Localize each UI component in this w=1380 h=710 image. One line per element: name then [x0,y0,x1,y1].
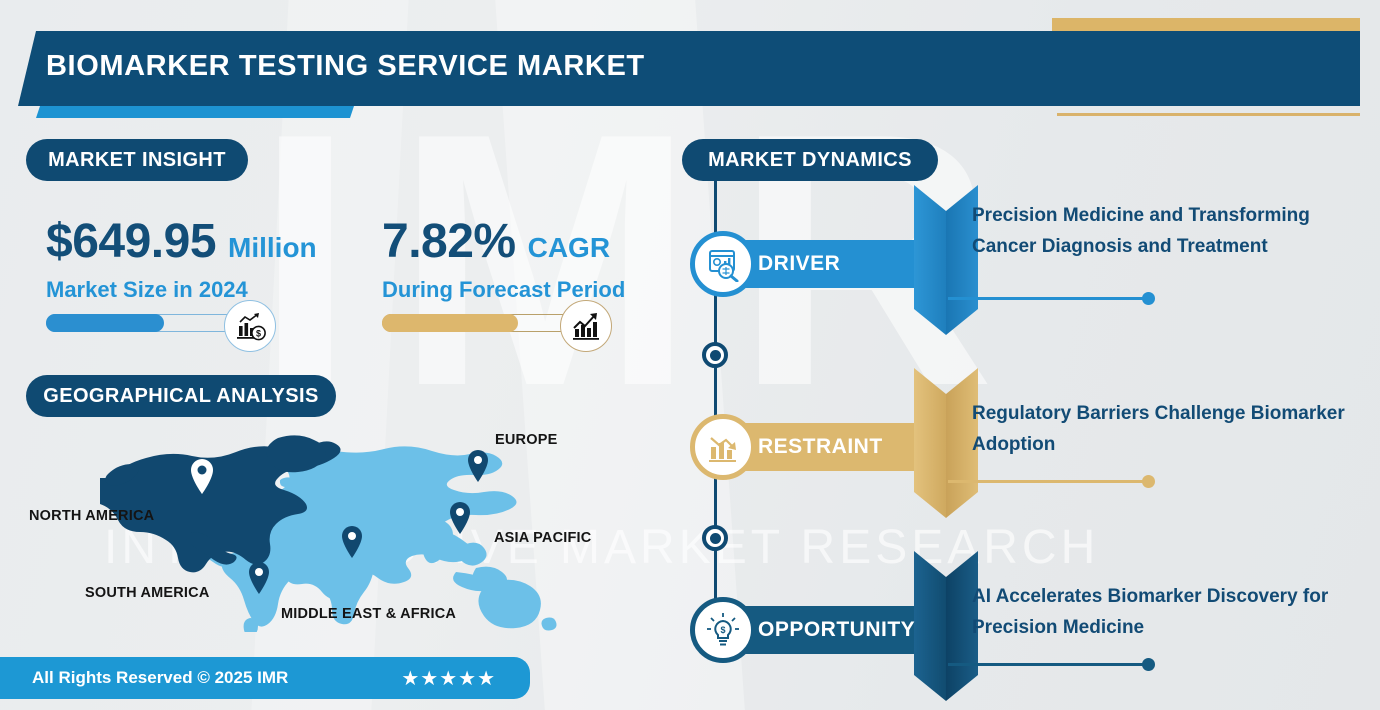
map-label-middle-east-africa: MIDDLE EAST & AFRICA [281,606,456,622]
restraint-label: RESTRAINT [758,423,883,471]
opportunity-chevron-arrow [914,551,978,701]
growth-arrow-chart-icon [560,300,612,352]
opportunity-label: OPPORTUNITY [758,606,915,654]
infographic-canvas: IMR INTROSPECTIVE MARKET RESEARCH BIOMAR… [0,0,1380,710]
restraint-end-dot [1142,475,1155,488]
map-pin-europe [468,450,488,482]
dynamics-timeline-node [702,342,728,368]
kpi-market-size-unit: Million [228,232,317,264]
report-magnifier-icon [690,231,756,297]
section-pill-geographical-analysis: GEOGRAPHICAL ANALYSIS [26,375,336,417]
map-label-asia-pacific: ASIA PACIFIC [494,530,591,546]
restraint-description: Regulatory Barriers Challenge Biomarker … [972,399,1372,461]
kpi-cagr-unit: CAGR [528,232,610,264]
kpi-cagr-value: 7.82% [382,214,516,269]
opportunity-end-dot [1142,658,1155,671]
driver-chevron-arrow [914,185,978,335]
header-blue-underline [36,106,354,118]
progress-bar-cagr [382,300,612,352]
dynamics-timeline-node [702,525,728,551]
driver-rule [948,297,1148,300]
kpi-market-size-value: $649.95 [46,214,216,269]
section-pill-market-dynamics: MARKET DYNAMICS [682,139,938,181]
footer-copyright: All Rights Reserved © 2025 IMR [32,668,288,688]
driver-end-dot [1142,292,1155,305]
progress-fill [382,314,518,332]
footer-star-rating: ★★★★★ [401,666,496,691]
header-gold-accent-line [1057,113,1360,116]
driver-label: DRIVER [758,240,840,288]
lightbulb-dollar-icon: $ [690,597,756,663]
opportunity-rule [948,663,1148,666]
opportunity-description: AI Accelerates Biomarker Discovery for P… [972,582,1372,644]
footer-bar: All Rights Reserved © 2025 IMR ★★★★★ [0,657,530,699]
dynamics-item-restraint: RESTRAINT Regulatory Barriers Challenge … [690,368,1380,518]
bar-chart-dollar-icon: $ [224,300,276,352]
map-label-north-america: NORTH AMERICA [29,508,154,524]
map-label-europe: EUROPE [495,432,557,448]
section-pill-market-insight: MARKET INSIGHT [26,139,248,181]
map-pin-asia-pacific [450,502,470,534]
dynamics-item-opportunity: $ OPPORTUNITY AI Accelerates Biomarker D… [690,551,1380,701]
page-title: BIOMARKER TESTING SERVICE MARKET [46,50,645,83]
declining-bar-chart-icon [690,414,756,480]
kpi-cagr: 7.82% CAGR During Forecast Period [382,214,625,303]
svg-text:$: $ [720,625,725,635]
restraint-rule [948,480,1148,483]
svg-text:$: $ [256,329,261,339]
dynamics-item-driver: DRIVER Precision Medicine and Transformi… [690,185,1380,335]
progress-fill [46,314,164,332]
map-label-south-america: SOUTH AMERICA [85,585,210,601]
kpi-market-size: $649.95 Million Market Size in 2024 [46,214,317,303]
progress-bar-market-size: $ [46,300,276,352]
driver-description: Precision Medicine and Transforming Canc… [972,201,1372,263]
restraint-chevron-arrow [914,368,978,518]
